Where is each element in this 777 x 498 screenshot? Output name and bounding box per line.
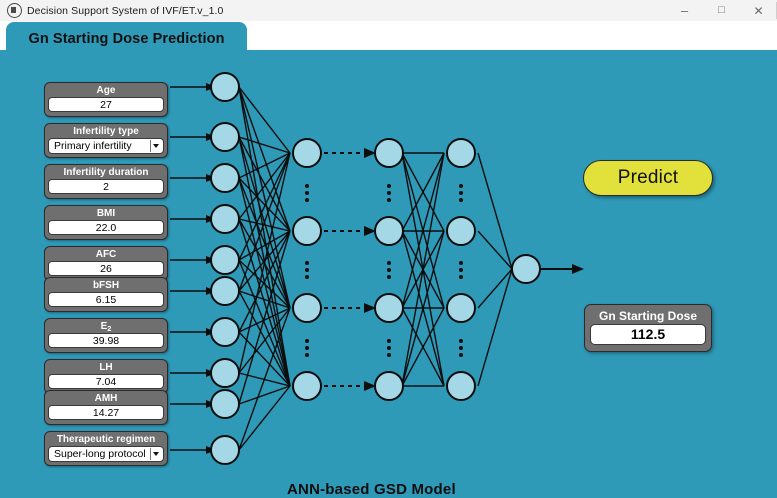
input-label-lh: LH [48, 361, 164, 374]
input-card-bmi: BMI 22.0 [44, 205, 168, 240]
input-value-age[interactable]: 27 [48, 97, 164, 112]
app-icon [7, 3, 22, 18]
dashed-connectors [324, 153, 368, 386]
application-window: Decision Support System of IVF/ET.v_1.0 … [0, 0, 777, 498]
tab-strip: Gn Starting Dose Prediction [0, 21, 777, 50]
edges-hidden3-output [478, 153, 512, 386]
input-card-infertility-type: Infertility type Primary infertility [44, 123, 168, 158]
input-value-infertility-duration[interactable]: 2 [48, 179, 164, 194]
input-value-bfsh[interactable]: 6.15 [48, 292, 164, 307]
layer-ellipsis-dots [305, 184, 463, 357]
input-card-therapeutic-regimen: Therapeutic regimen Super-long protocol [44, 431, 168, 466]
model-caption: ANN-based GSD Model [287, 481, 456, 498]
input-value-lh[interactable]: 7.04 [48, 374, 164, 389]
input-select-infertility-type[interactable]: Primary infertility [48, 138, 164, 154]
chevron-down-icon[interactable] [150, 140, 161, 152]
predict-button[interactable]: Predict [583, 160, 713, 196]
edges-input-hidden1 [239, 87, 290, 450]
input-card-age: Age 27 [44, 82, 168, 117]
maximize-button[interactable]: □ [703, 0, 740, 21]
input-label-infertility-duration: Infertility duration [48, 166, 164, 179]
window-controls: – □ ✕ [666, 0, 777, 21]
output-layer-node [512, 255, 540, 283]
input-value-e2[interactable]: 39.98 [48, 333, 164, 348]
input-card-afc: AFC 26 [44, 246, 168, 281]
input-value-bmi[interactable]: 22.0 [48, 220, 164, 235]
chevron-down-icon[interactable] [150, 448, 161, 460]
main-panel: ANN-based GSD Model Age 27 Infertility t… [0, 50, 777, 498]
close-button[interactable]: ✕ [740, 0, 777, 21]
input-card-e2: E2 39.98 [44, 318, 168, 353]
input-select-therapeutic-regimen[interactable]: Super-long protocol [48, 446, 164, 462]
output-card-gn-starting-dose: Gn Starting Dose 112.5 [584, 304, 712, 352]
input-label-afc: AFC [48, 248, 164, 261]
edges-hidden2-hidden3 [402, 153, 444, 386]
dashed-arrowheads [364, 148, 376, 391]
input-card-amh: AMH 14.27 [44, 390, 168, 425]
input-card-bfsh: bFSH 6.15 [44, 277, 168, 312]
output-label: Gn Starting Dose [590, 308, 706, 324]
input-layer-nodes [211, 73, 239, 464]
input-value-therapeutic-regimen: Super-long protocol [54, 448, 146, 460]
predict-button-label: Predict [618, 167, 679, 189]
input-label-bfsh: bFSH [48, 279, 164, 292]
input-label-amh: AMH [48, 392, 164, 405]
output-value: 112.5 [590, 324, 706, 345]
input-label-infertility-type: Infertility type [48, 125, 164, 138]
input-arrows [170, 87, 210, 450]
tab-label: Gn Starting Dose Prediction [28, 31, 224, 47]
input-card-infertility-duration: Infertility duration 2 [44, 164, 168, 199]
output-arrowhead [572, 264, 584, 274]
input-label-e2: E2 [48, 320, 164, 333]
input-value-amh[interactable]: 14.27 [48, 405, 164, 420]
minimize-button[interactable]: – [666, 0, 703, 21]
input-value-afc[interactable]: 26 [48, 261, 164, 276]
input-value-infertility-type: Primary infertility [54, 140, 132, 152]
input-label-bmi: BMI [48, 207, 164, 220]
input-label-therapeutic-regimen: Therapeutic regimen [48, 433, 164, 446]
window-title: Decision Support System of IVF/ET.v_1.0 [27, 5, 223, 17]
title-bar: Decision Support System of IVF/ET.v_1.0 … [0, 0, 777, 22]
input-label-age: Age [48, 84, 164, 97]
input-card-lh: LH 7.04 [44, 359, 168, 394]
